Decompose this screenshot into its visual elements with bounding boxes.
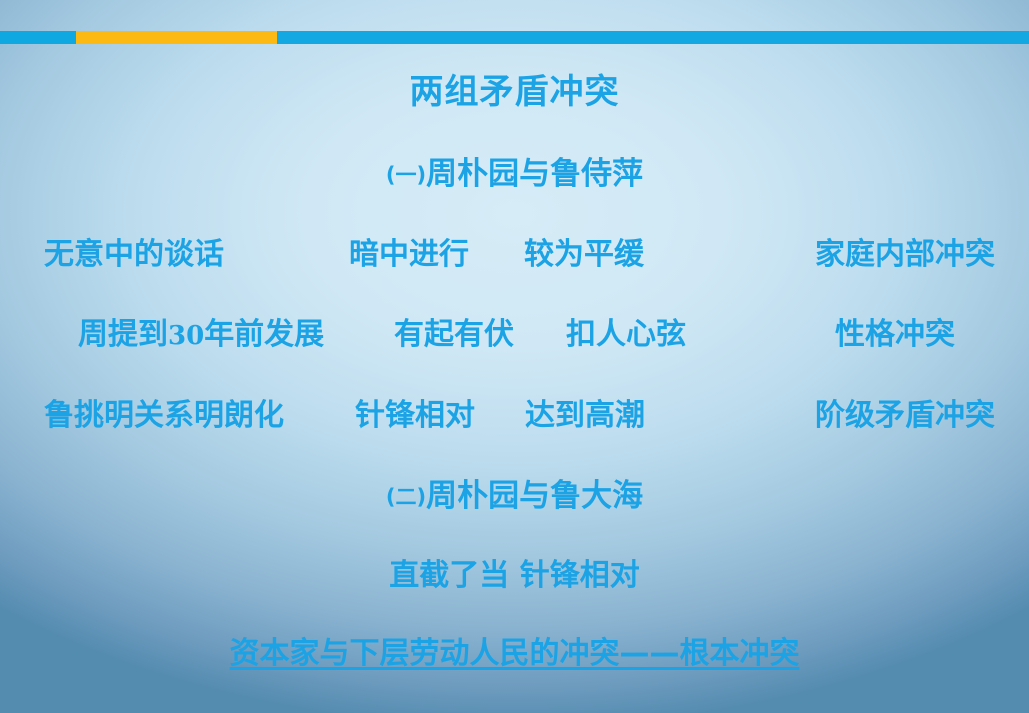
conflict-row-2: 周提到30年前发展 有起有伏 扣人心弦 性格冲突 [0,320,1029,364]
decorative-top-bar [0,31,1029,44]
row2-col3: 扣人心弦 [566,320,686,350]
row2-col2: 有起有伏 [394,320,514,350]
slide-title: 两组矛盾冲突 [0,75,1029,109]
conflict-row-3: 鲁挑明关系明朗化 针锋相对 达到高潮 阶级矛盾冲突 [0,401,1029,445]
row2-col4: 性格冲突 [835,320,955,350]
conclusion-line: 资本家与下层劳动人民的冲突——根本冲突 [0,639,1029,669]
section-two-label: 周朴园与鲁大海 [426,478,643,514]
conflict-row-1: 无意中的谈话 暗中进行 较为平缓 家庭内部冲突 [0,240,1029,284]
row3-col2: 针锋相对 [355,401,475,431]
row3-col4: 阶级矛盾冲突 [815,401,995,431]
section-one-marker: (一) [386,163,426,187]
row1-col1: 无意中的谈话 [44,240,224,270]
row2-col1-number: 30 [168,321,204,351]
section-one-label: 周朴园与鲁侍萍 [426,156,643,192]
presentation-slide: 两组矛盾冲突 (一)周朴园与鲁侍萍 无意中的谈话 暗中进行 较为平缓 家庭内部冲… [0,0,1029,713]
row3-col3: 达到高潮 [525,401,645,431]
row2-col1-suffix: 年前发展 [204,317,324,352]
section-heading-two: (二)周朴园与鲁大海 [0,481,1029,512]
blue-bar-right-segment [277,31,1029,44]
row3-col1: 鲁挑明关系明朗化 [44,401,284,431]
row2-col1: 周提到30年前发展 [78,320,324,350]
row1-col3: 较为平缓 [524,240,644,270]
row2-col1-prefix: 周提到 [78,317,168,352]
row1-col4: 家庭内部冲突 [815,240,995,270]
yellow-bar-segment [76,31,277,44]
row1-col2: 暗中进行 [349,240,469,270]
blue-bar-left-segment [0,31,76,44]
section-two-marker: (二) [386,485,426,509]
section-two-descriptor: 直截了当 针锋相对 [0,561,1029,591]
section-heading-one: (一)周朴园与鲁侍萍 [0,159,1029,190]
